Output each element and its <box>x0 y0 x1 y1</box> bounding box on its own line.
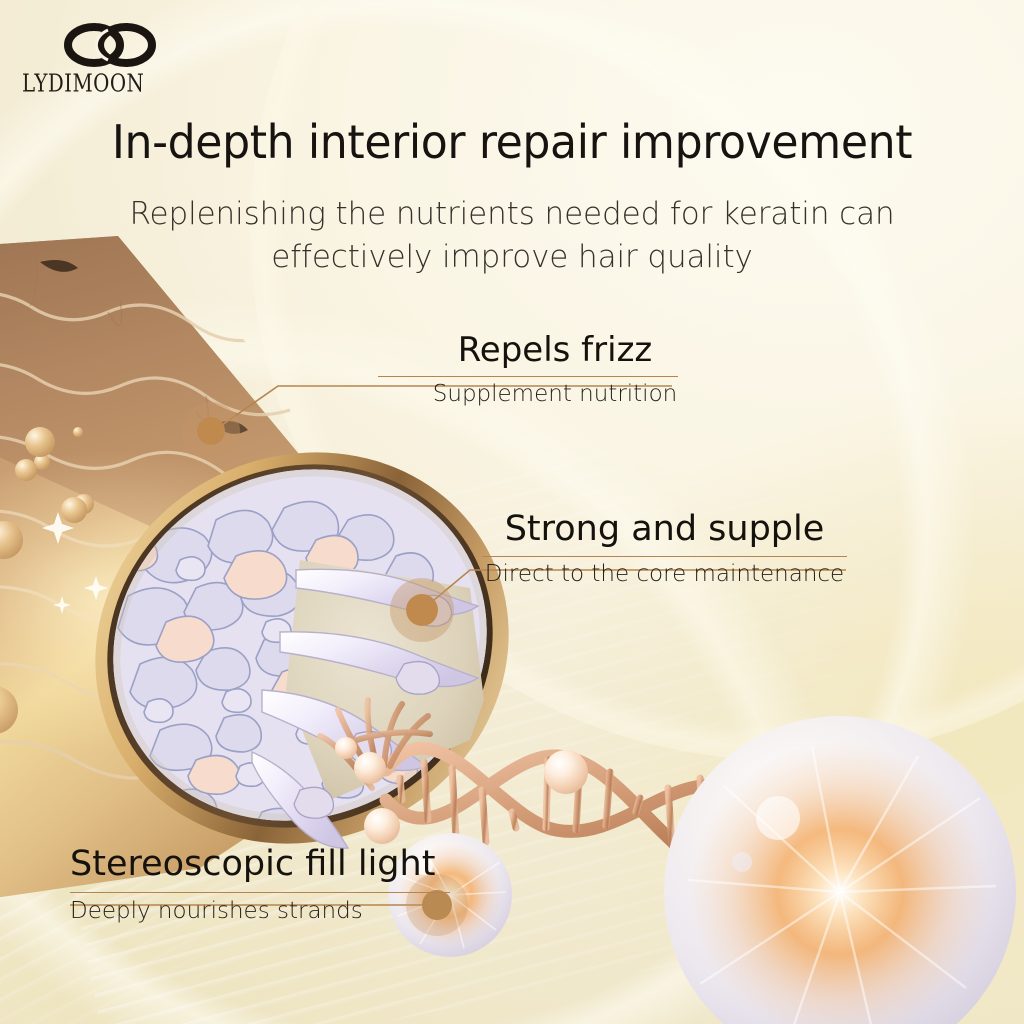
feature-divider <box>378 376 678 377</box>
feature-divider <box>482 556 847 557</box>
pearl-large <box>664 716 1016 1024</box>
feature-subtitle: Direct to the core maintenance <box>482 561 847 587</box>
feature-callout-2: Strong and supple Direct to the core mai… <box>482 509 847 587</box>
page-subtitle: Replenishing the nutrients needed for ke… <box>72 193 952 279</box>
page-title: In-depth interior repair improvement <box>20 118 1003 167</box>
hotspot-dot-1[interactable] <box>182 402 240 460</box>
brand-logo[interactable]: LYDIMOON <box>22 22 222 95</box>
feature-subtitle: Supplement nutrition <box>405 381 705 407</box>
feature-subtitle: Deeply nourishes strands <box>70 898 450 924</box>
feature-divider <box>70 892 450 893</box>
feature-callout-1: Repels frizz Supplement nutrition <box>405 330 705 407</box>
feature-callout-3: Stereoscopic fill light Deeply nourishes… <box>70 844 450 924</box>
feature-title: Stereoscopic fill light <box>70 844 450 884</box>
feature-title: Repels frizz <box>405 330 705 370</box>
promo-banner: LYDIMOON In-depth interior repair improv… <box>0 0 1024 1024</box>
page-subtitle-line1: Replenishing the nutrients needed for ke… <box>72 193 952 236</box>
hotspot-core <box>197 417 225 445</box>
page-subtitle-line2: effectively improve hair quality <box>72 236 952 279</box>
hotspot-dot-2[interactable] <box>390 578 454 642</box>
feature-title: Strong and supple <box>482 509 847 549</box>
hotspot-core <box>406 594 438 626</box>
brand-wordmark: LYDIMOON <box>22 70 202 98</box>
interlocking-rings-icon <box>64 22 160 68</box>
